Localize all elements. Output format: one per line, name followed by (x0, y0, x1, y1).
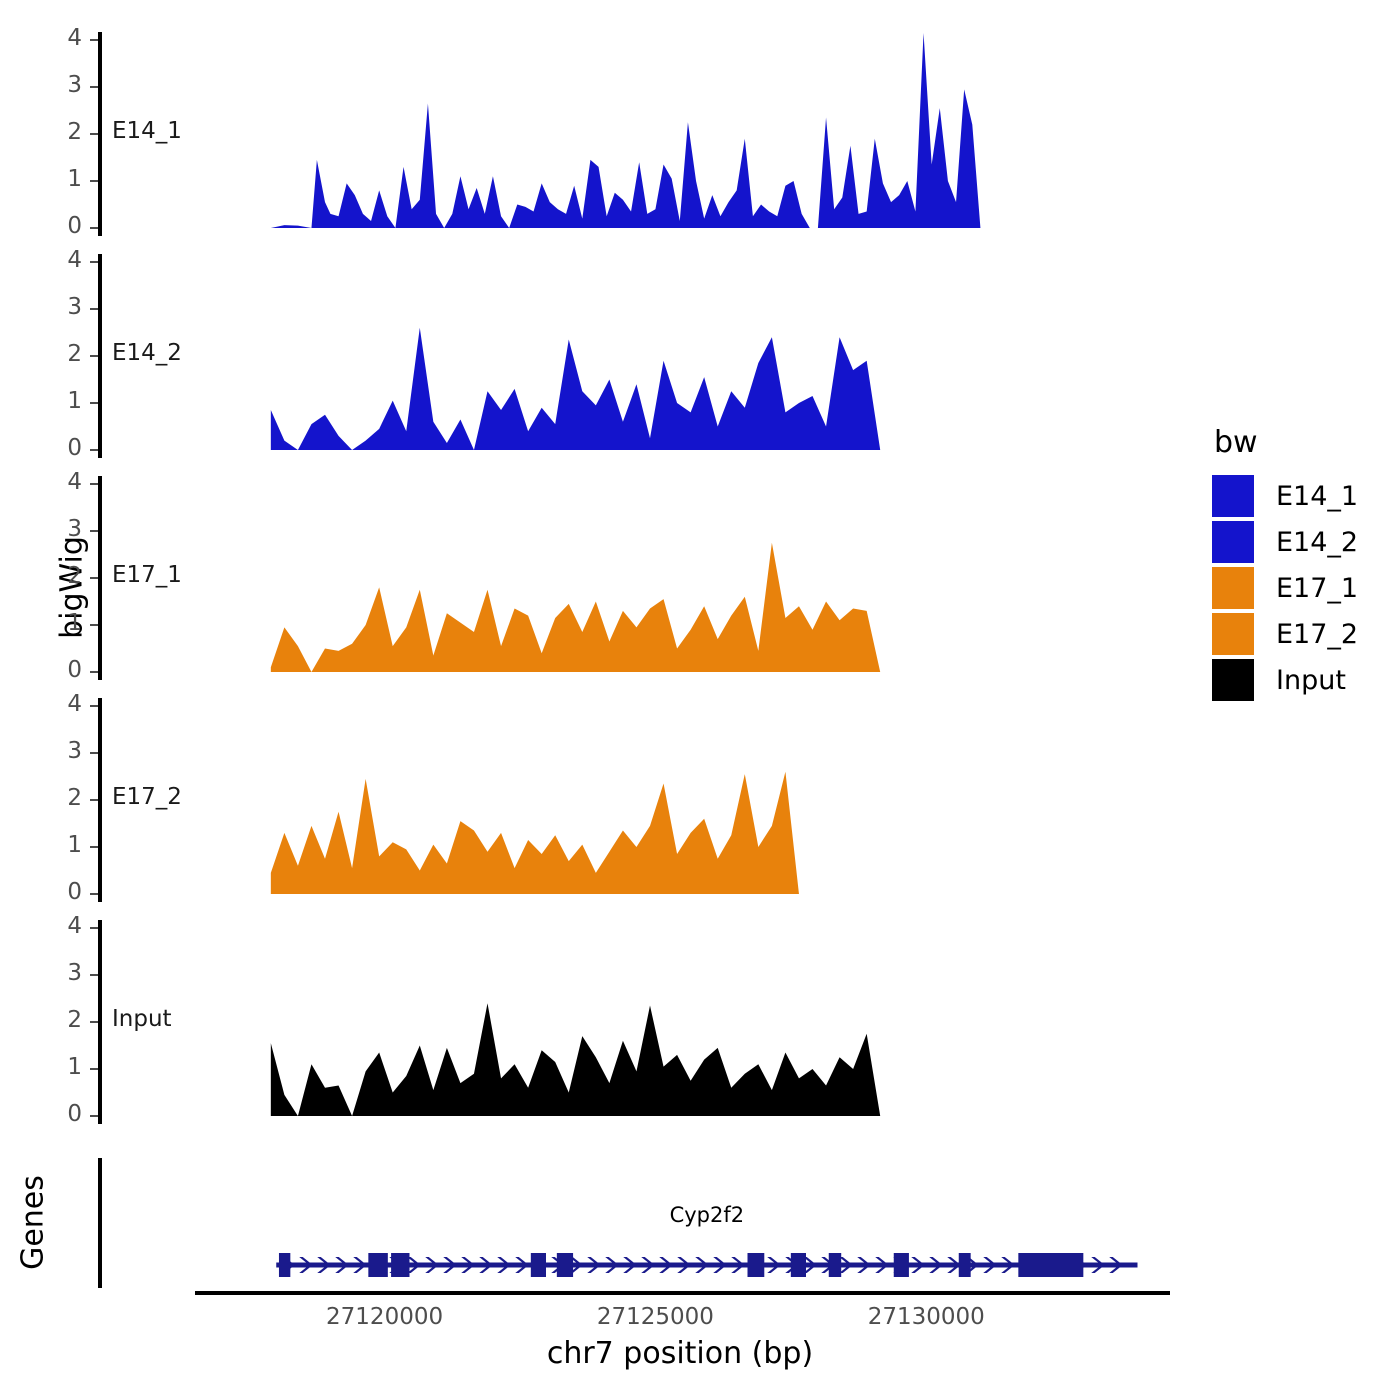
legend-label: E14_2 (1276, 527, 1358, 558)
x-tick-label: 27125000 (565, 1304, 745, 1330)
legend-label: E17_1 (1276, 573, 1358, 604)
x-axis-line (195, 1291, 1170, 1295)
legend-items: E14_1E14_2E17_1E17_2Input (1212, 474, 1358, 702)
x-tick-label: 27120000 (295, 1304, 475, 1330)
legend-item-e17_2[interactable]: E17_2 (1212, 612, 1358, 656)
legend-label: Input (1276, 665, 1346, 696)
legend-swatch-e14_1 (1212, 475, 1254, 517)
gene-name-label: Cyp2f2 (587, 1203, 827, 1227)
gene-model-cyp2f2 (0, 0, 1400, 1400)
legend-label: E14_1 (1276, 481, 1358, 512)
legend-item-input[interactable]: Input (1212, 658, 1358, 702)
figure-root: bigWig Genes 01234E14_101234E14_201234E1… (0, 0, 1400, 1400)
x-tick-label: 27130000 (836, 1304, 1016, 1330)
legend-swatch-input (1212, 659, 1254, 701)
legend-item-e14_1[interactable]: E14_1 (1212, 474, 1358, 518)
genes-axis-line (98, 1158, 102, 1288)
legend-item-e17_1[interactable]: E17_1 (1212, 566, 1358, 610)
gene-panel: Cyp2f2 (0, 0, 1400, 1400)
legend-swatch-e17_2 (1212, 613, 1254, 655)
legend-item-e14_2[interactable]: E14_2 (1212, 520, 1358, 564)
legend-swatch-e14_2 (1212, 521, 1254, 563)
x-axis-title: chr7 position (bp) (380, 1336, 980, 1371)
legend-label: E17_2 (1276, 619, 1358, 650)
legend-swatch-e17_1 (1212, 567, 1254, 609)
legend: bw E14_1E14_2E17_1E17_2Input (1212, 425, 1358, 704)
legend-title: bw (1214, 425, 1358, 460)
